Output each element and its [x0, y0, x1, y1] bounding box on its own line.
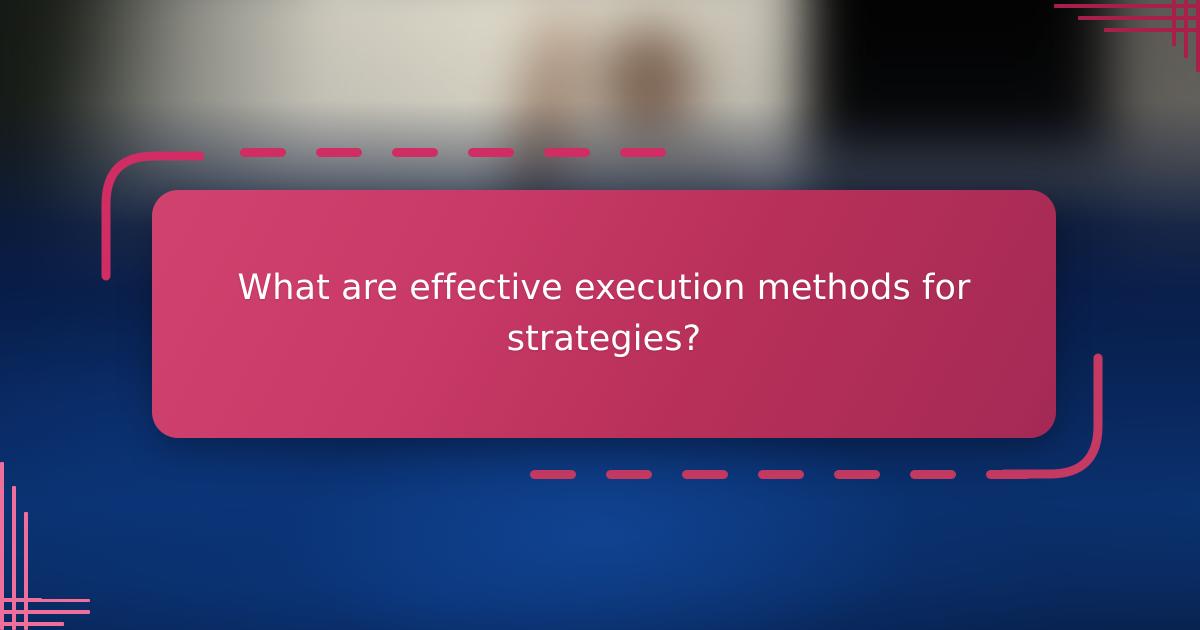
- frame-horizontal-4: [24, 599, 90, 602]
- dash-segment: [544, 148, 590, 157]
- frame-vertical-1: [0, 462, 4, 630]
- frame-vertical-2: [12, 486, 16, 630]
- question-text: What are effective execution methods for…: [224, 263, 984, 365]
- frame-horizontal-2: [1078, 16, 1200, 20]
- frame-vertical-1: [1196, 0, 1200, 72]
- bottom-dashed-rule: [530, 470, 1032, 479]
- dash-segment: [316, 148, 362, 157]
- dash-segment: [620, 148, 666, 157]
- dash-segment: [834, 470, 880, 479]
- frame-horizontal-2: [0, 610, 90, 614]
- dash-segment: [606, 470, 652, 479]
- frame-horizontal-1: [0, 622, 64, 626]
- top-dashed-rule: [240, 148, 666, 157]
- dash-segment: [468, 148, 514, 157]
- dash-segment: [392, 148, 438, 157]
- dash-segment: [758, 470, 804, 479]
- dash-segment: [682, 470, 728, 479]
- frame-horizontal-3: [1104, 28, 1200, 32]
- frame-horizontal-1: [1054, 4, 1200, 8]
- question-card: What are effective execution methods for…: [152, 190, 1056, 438]
- dash-segment: [240, 148, 286, 157]
- dash-segment: [530, 470, 576, 479]
- dash-segment: [910, 470, 956, 479]
